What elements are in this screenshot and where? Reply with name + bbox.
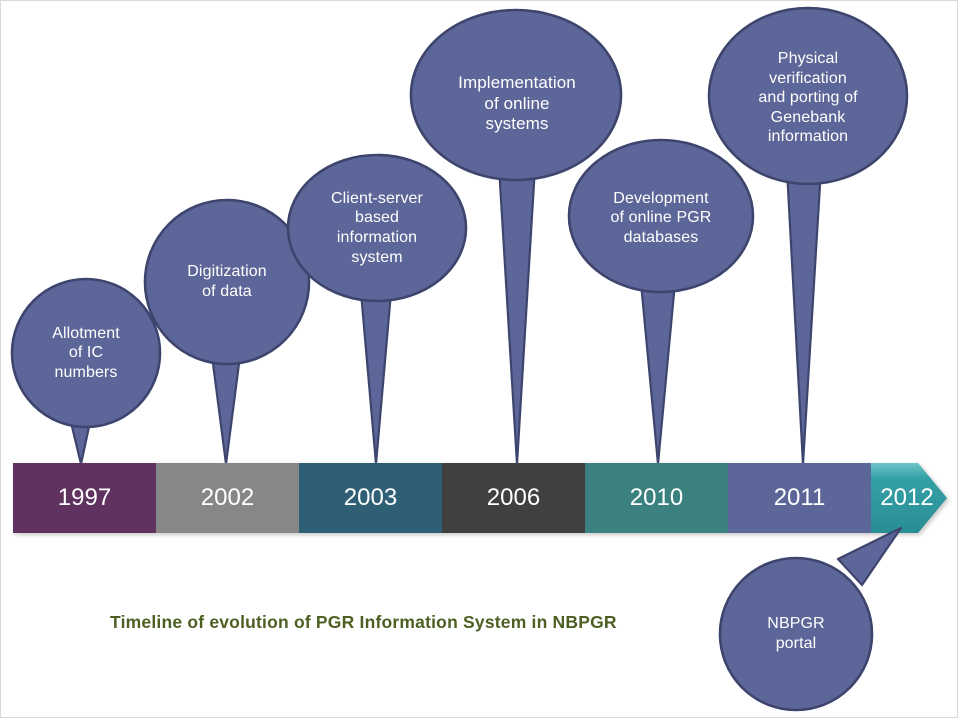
- callout-client-server[interactable]: [288, 155, 466, 464]
- callout-tail: [640, 272, 676, 464]
- timeline-segment-2011[interactable]: [728, 463, 871, 533]
- callout-bubble: [288, 155, 466, 301]
- timeline-segment-1997[interactable]: [13, 463, 156, 533]
- timeline-segment-2010[interactable]: [585, 463, 728, 533]
- timeline-diagram: Allotment of IC numbers Digitization of …: [0, 0, 960, 720]
- timeline-segment-2006[interactable]: [442, 463, 585, 533]
- callout-bubble: [411, 10, 621, 180]
- timeline-segment-2003[interactable]: [299, 463, 442, 533]
- callout-tail: [786, 152, 822, 464]
- callout-tail: [498, 150, 536, 464]
- callout-bubble: [569, 140, 753, 292]
- callout-pgr-databases[interactable]: [569, 140, 753, 464]
- callout-nbpgr-portal[interactable]: [720, 528, 901, 710]
- timeline-bar: [13, 463, 947, 533]
- diagram-caption: Timeline of evolution of PGR Information…: [110, 612, 617, 633]
- callout-bubble: [12, 279, 160, 427]
- timeline-segment-2012[interactable]: [871, 463, 947, 533]
- callout-bubble: [709, 8, 907, 184]
- callout-allotment[interactable]: [12, 279, 160, 464]
- callout-digitization[interactable]: [145, 200, 309, 464]
- callout-bubble: [720, 558, 872, 710]
- timeline-segment-2002[interactable]: [156, 463, 299, 533]
- callout-bubble: [145, 200, 309, 364]
